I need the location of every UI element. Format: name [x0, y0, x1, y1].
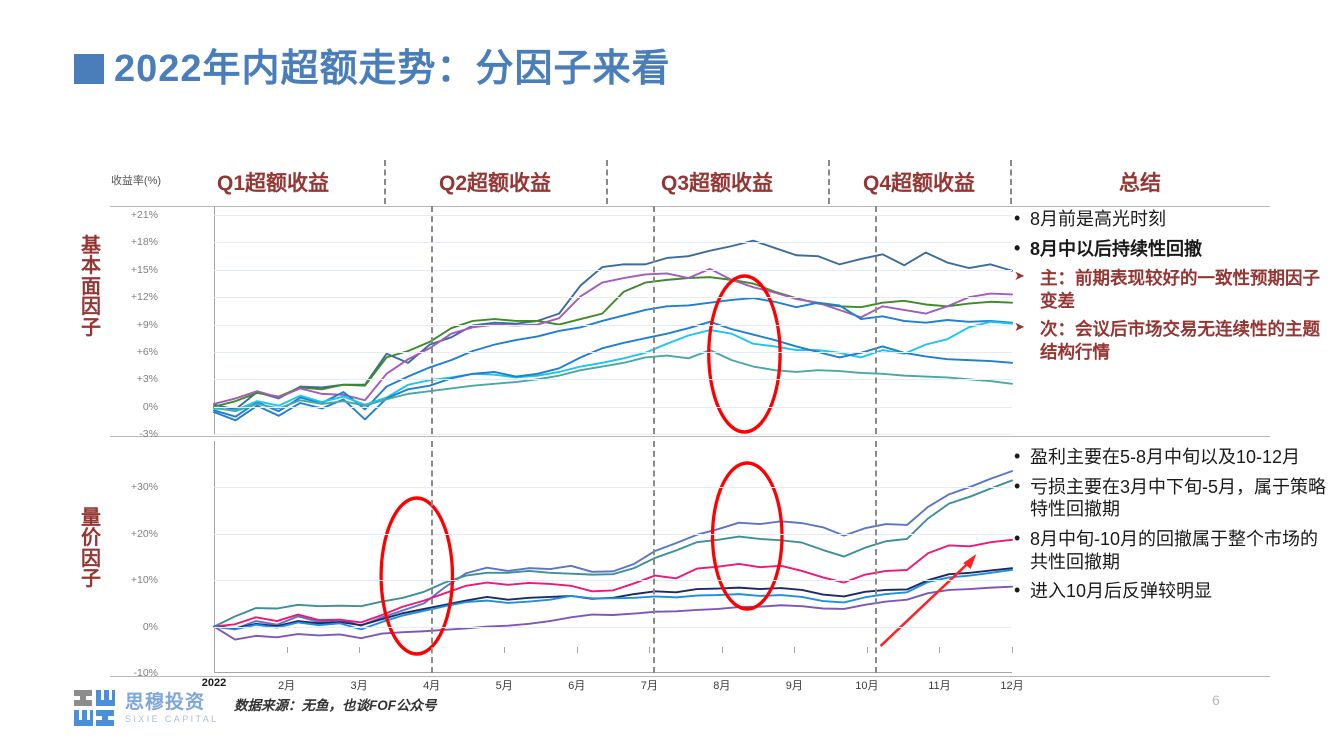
quarter-divider-2: [653, 206, 655, 434]
x-axis-tickmark: [867, 647, 868, 653]
row-label-fundamental-c2: 面: [76, 277, 106, 297]
row-label-fundamental-c1: 本: [76, 256, 106, 276]
gridline: [214, 215, 1012, 216]
row-label-pricevolume-c1: 价: [76, 528, 106, 548]
gridline: [214, 534, 1012, 535]
gridline: [214, 407, 1012, 408]
quarter-divider-3: [875, 441, 877, 673]
logo-text: 思穆投资 SIXIE CAPITAL: [125, 693, 219, 724]
header-divider-4: [1010, 160, 1012, 204]
chart-fundamental-factors: +21%+18%+15%+12%+9%+6%+3%0%-3%: [162, 206, 1012, 434]
summary-bullet: 盈利主要在5-8月中旬以及10-12月: [1010, 446, 1328, 469]
row-label-pricevolume-c3: 子: [76, 569, 106, 589]
gridline: [214, 379, 1012, 380]
gridline: [214, 352, 1012, 353]
row-label-pricevolume-c2: 因: [76, 549, 106, 569]
x-axis-tickmark: [722, 647, 723, 653]
y-axis-tick: 0%: [143, 621, 158, 633]
annotation-arrow-rebound-shaft: [881, 559, 973, 646]
summary-sub-bullet: 次：会议后市场交易无连续性的主题结构行情: [1010, 318, 1328, 363]
y-axis-tick: +12%: [131, 291, 158, 303]
company-logo: 思穆投资 SIXIE CAPITAL: [72, 688, 219, 728]
chart-fundamental-plot: [214, 206, 1012, 434]
y-axis-tick: -3%: [139, 428, 158, 440]
summary-bullet: 8月前是高光时刻: [1010, 208, 1328, 231]
x-axis-labels: 20222月3月4月5月6月7月8月9月10月11月12月: [214, 675, 1012, 695]
logo-glyph-icon: [72, 688, 116, 728]
chart-pricevolume-annotations: [214, 441, 1012, 673]
column-header-q2: Q2超额收益: [384, 162, 606, 202]
x-axis-tickmark: [432, 647, 433, 653]
x-axis-tick: 11月: [928, 677, 950, 693]
gridline: [214, 270, 1012, 271]
x-axis-tick: 12月: [1000, 677, 1023, 693]
page-number: 6: [1212, 692, 1220, 708]
x-axis-tick: 10月: [855, 677, 878, 693]
gridline: [214, 242, 1012, 243]
summary-fundamental-list: 8月前是高光时刻 8月中以后持续性回撤 主：前期表现较好的一致性预期因子变差 次…: [1010, 208, 1328, 363]
gridline: [214, 297, 1012, 298]
y-axis-tick: 0%: [143, 401, 158, 413]
gridline: [214, 325, 1012, 326]
y-axis-tick: +9%: [137, 319, 158, 331]
x-axis-tickmark: [794, 647, 795, 653]
summary-pricevolume-list: 盈利主要在5-8月中旬以及10-12月 亏损主要在3月中下旬-5月，属于策略特性…: [1010, 446, 1328, 603]
row-label-fundamental-c3: 因: [76, 297, 106, 317]
header-divider-3: [828, 160, 830, 204]
row-label-fundamental: 基 本 面 因 子: [76, 236, 106, 338]
slide-root: 2022年内超额走势：分因子来看 收益率(%) Q1超额收益 Q2超额收益 Q3…: [0, 0, 1328, 745]
row-label-fundamental-c4: 子: [76, 318, 106, 338]
column-header-q4: Q4超额收益: [828, 162, 1010, 202]
summary-bullet: 进入10月后反弹较明显: [1010, 580, 1328, 603]
summary-pricevolume: 盈利主要在5-8月中旬以及10-12月 亏损主要在3月中下旬-5月，属于策略特性…: [1010, 446, 1328, 674]
quarter-divider-2: [653, 441, 655, 673]
chart-fundamental-yaxis: +21%+18%+15%+12%+9%+6%+3%0%-3%: [162, 206, 214, 434]
chart-fundamental-annotations: [214, 206, 1012, 434]
quarter-divider-1: [431, 441, 433, 673]
gridline: [214, 580, 1012, 581]
chart-pricevolume-yaxis: +30%+20%+10%0%-10%: [162, 441, 214, 673]
panel-rule-mid: [110, 436, 1270, 437]
y-axis-tick: +21%: [131, 209, 158, 221]
row-label-fundamental-c0: 基: [76, 236, 106, 256]
row-label-pricevolume: 量 价 因 子: [76, 508, 106, 590]
y-axis-tick: +10%: [131, 574, 158, 586]
column-header-q1: Q1超额收益: [162, 162, 384, 202]
y-axis-tick: +3%: [137, 373, 158, 385]
row-label-pricevolume-c0: 量: [76, 508, 106, 528]
x-axis-tickmark: [649, 647, 650, 653]
logo-name-cn: 思穆投资: [125, 693, 219, 712]
quarter-divider-1: [431, 206, 433, 434]
summary-bullet-emphasis: 8月中以后持续性回撤: [1010, 238, 1328, 261]
page-title: 2022年内超额走势：分因子来看: [114, 50, 671, 88]
y-axis-tick: +15%: [131, 264, 158, 276]
title-square-icon: [74, 54, 104, 84]
quarter-divider-3: [875, 206, 877, 434]
annotation-ellipse-april: [381, 498, 452, 654]
x-axis-tickmark: [287, 647, 288, 653]
x-axis-tick: 8月: [713, 677, 730, 693]
gridline: [214, 487, 1012, 488]
x-axis-tickmark: [359, 647, 360, 653]
x-axis-tick: 4月: [423, 677, 440, 693]
x-axis-tickmark: [504, 647, 505, 653]
x-axis-tick: 3月: [351, 677, 368, 693]
summary-sub-bullet: 主：前期表现较好的一致性预期因子变差: [1010, 267, 1328, 312]
y-axis-caption: 收益率(%): [110, 172, 162, 188]
y-axis-tick: +18%: [131, 236, 158, 248]
summary-bullet: 8月中旬-10月的回撤属于整个市场的共性回撤期: [1010, 528, 1328, 573]
header-divider-2: [606, 160, 608, 204]
summary-bullet: 亏损主要在3月中下旬-5月，属于策略特性回撤期: [1010, 476, 1328, 521]
column-header-q3: Q3超额收益: [606, 162, 828, 202]
y-axis-tick: +20%: [131, 528, 158, 540]
y-axis-tick: +6%: [137, 346, 158, 358]
x-axis-tick: 9月: [786, 677, 803, 693]
summary-fundamental-sublist: 主：前期表现较好的一致性预期因子变差 次：会议后市场交易无连续性的主题结构行情: [1010, 267, 1328, 363]
x-axis-tick: 2月: [278, 677, 295, 693]
chart-pricevolume-factors: +30%+20%+10%0%-10% 20222月3月4月5月6月7月8月9月1…: [162, 441, 1012, 673]
x-axis-tick: 6月: [568, 677, 585, 693]
slide-title-row: 2022年内超额走势：分因子来看: [74, 50, 671, 88]
logo-mark-icon: [72, 688, 116, 728]
quarter-header-band: 收益率(%) Q1超额收益 Q2超额收益 Q3超额收益 Q4超额收益 总结: [110, 158, 1270, 206]
logo-name-en: SIXIE CAPITAL: [125, 715, 219, 724]
column-header-summary: 总结: [1010, 162, 1270, 202]
y-axis-tick: +30%: [131, 481, 158, 493]
data-source-note: 数据来源：无鱼，也谈FOF公众号: [234, 694, 437, 714]
y-axis-tick: -10%: [133, 667, 158, 679]
header-divider-1: [384, 160, 386, 204]
x-axis-tickmark: [214, 647, 215, 653]
annotation-ellipse-august: [709, 276, 780, 432]
x-axis-tickmark: [577, 647, 578, 653]
summary-fundamental: 8月前是高光时刻 8月中以后持续性回撤 主：前期表现较好的一致性预期因子变差 次…: [1010, 208, 1328, 434]
annotation-ellipse-august-bot: [713, 463, 782, 609]
x-axis-tick: 7月: [641, 677, 658, 693]
gridline: [214, 434, 1012, 435]
gridline: [214, 627, 1012, 628]
x-axis-tickmark: [939, 647, 940, 653]
chart-pricevolume-plot: 20222月3月4月5月6月7月8月9月10月11月12月: [214, 441, 1012, 673]
x-axis-tick: 5月: [496, 677, 513, 693]
